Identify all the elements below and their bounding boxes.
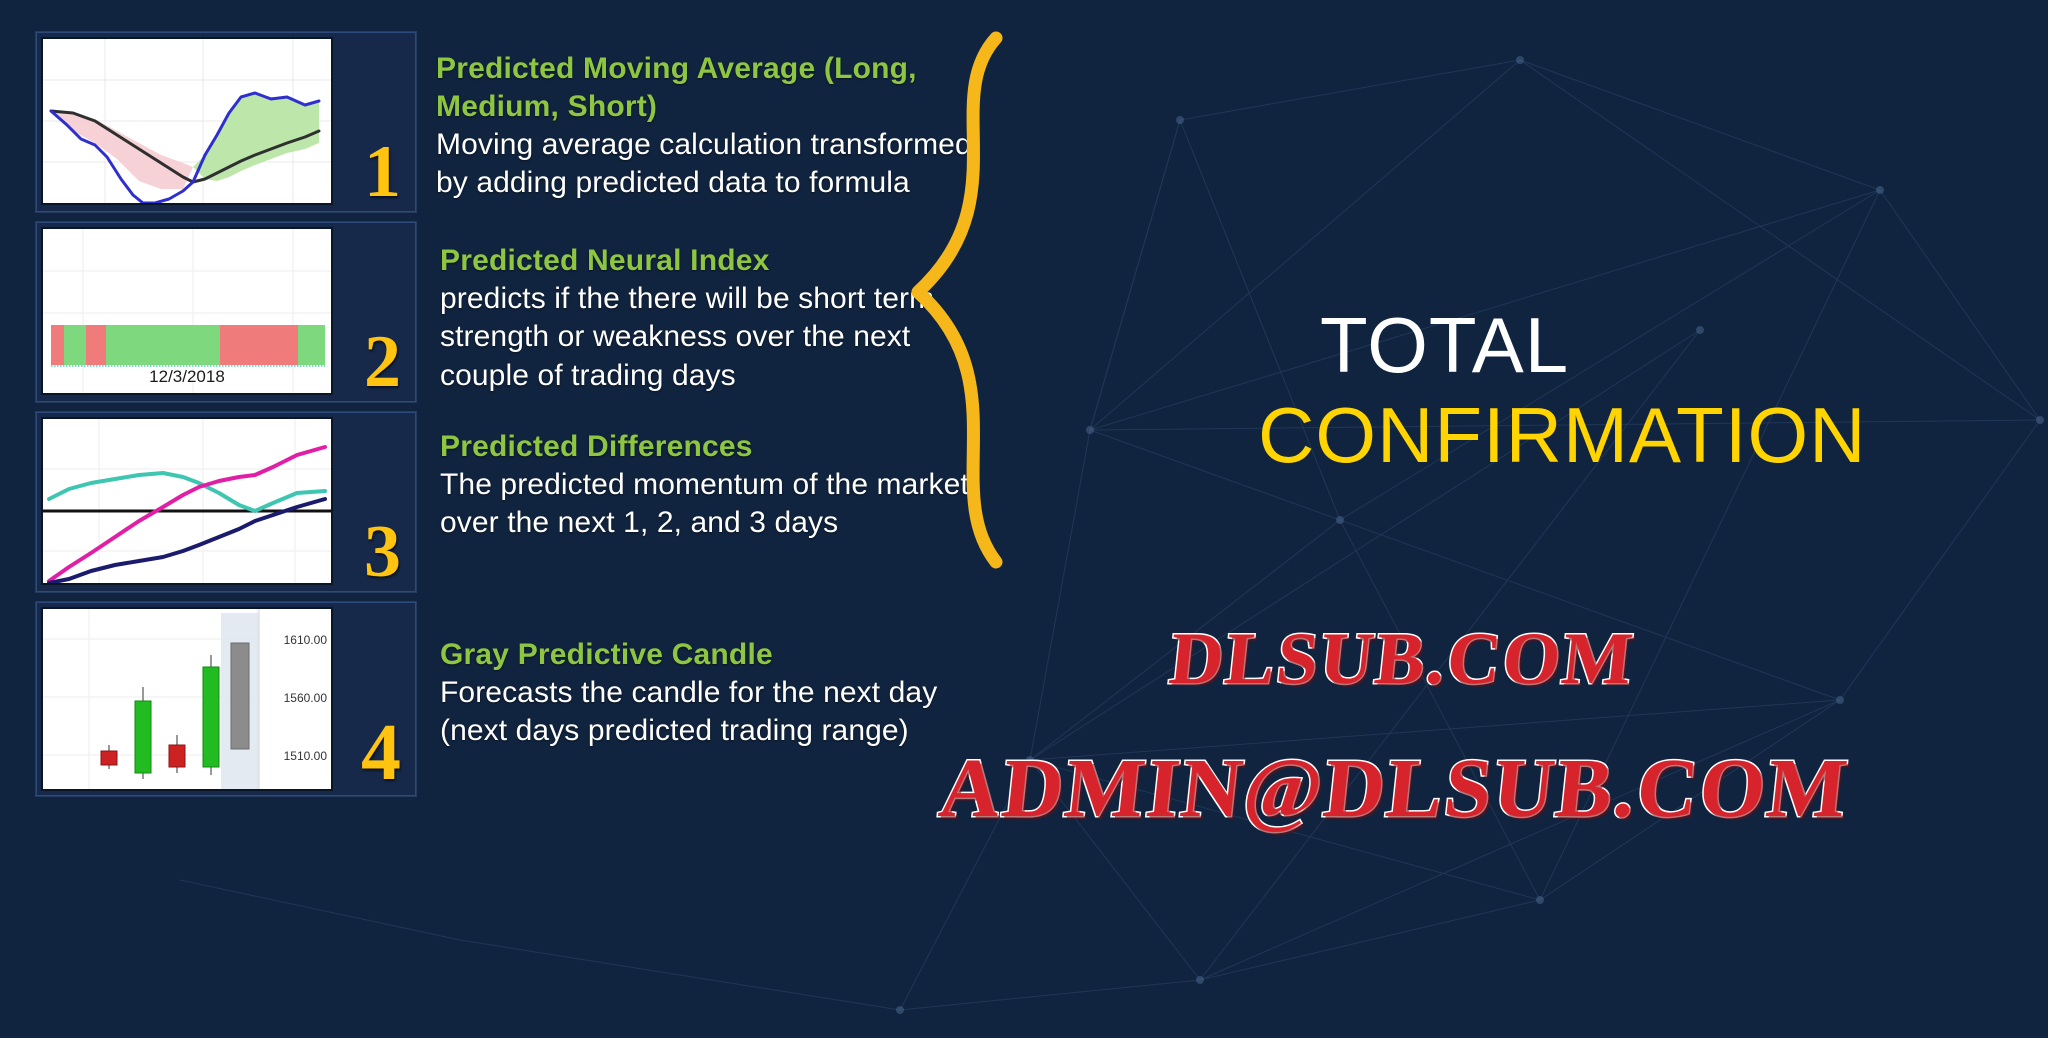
watermark-site: DLSUB.COM (1166, 617, 1639, 702)
text-block-1: Predicted Moving Average (Long, Medium, … (436, 50, 976, 203)
watermark-email: ADMIN@DLSUB.COM (935, 740, 1854, 837)
section-numeral-3: 3 (364, 515, 401, 589)
chart-predicted-neural-index: 12/3/2018 (41, 227, 333, 395)
predicted-differences-plot (43, 419, 331, 583)
section-numeral-2: 2 (364, 325, 401, 399)
text-block-4: Gray Predictive Candle Forecasts the can… (436, 636, 976, 751)
body-predicted-differences: The predicted momentum of the market ove… (436, 466, 976, 543)
infographic-canvas: 1 (0, 0, 2048, 1038)
chart-predicted-differences (41, 417, 333, 585)
section-numeral-1: 1 (364, 135, 401, 209)
text-block-2: Predicted Neural Index predicts if the t… (436, 242, 976, 396)
price-label-3: 1510.00 (284, 749, 327, 763)
panel-predicted-moving-average: 1 (36, 32, 416, 212)
neural-index-bars (51, 325, 325, 365)
body-predicted-neural-index: predicts if the there will be short term… (436, 280, 976, 396)
callout-total: TOTAL (1320, 300, 1569, 391)
heading-predicted-neural-index: Predicted Neural Index (436, 242, 976, 280)
price-label-1: 1610.00 (284, 633, 327, 647)
predicted-moving-average-plot (43, 39, 331, 203)
chart-predicted-moving-average (41, 37, 333, 205)
body-predicted-moving-average: Moving average calculation transformed b… (436, 126, 976, 203)
callout-confirmation: CONFIRMATION (1258, 390, 1867, 481)
text-block-3: Predicted Differences The predicted mome… (436, 428, 976, 543)
price-label-2: 1560.00 (284, 691, 327, 705)
heading-predicted-moving-average: Predicted Moving Average (Long, Medium, … (436, 50, 976, 126)
panel-predicted-neural-index: 12/3/2018 2 (36, 222, 416, 402)
heading-predicted-differences: Predicted Differences (436, 428, 976, 466)
heading-gray-predictive-candle: Gray Predictive Candle (436, 636, 976, 674)
panel-predicted-differences: 3 (36, 412, 416, 592)
panel-gray-predictive-candle: 1610.00 1560.00 1510.00 4 (36, 602, 416, 796)
neural-index-date-label: 12/3/2018 (43, 367, 331, 387)
chart-gray-predictive-candle: 1610.00 1560.00 1510.00 (41, 607, 333, 791)
body-gray-predictive-candle: Forecasts the candle for the next day (n… (436, 674, 976, 751)
section-numeral-4: 4 (361, 713, 401, 793)
